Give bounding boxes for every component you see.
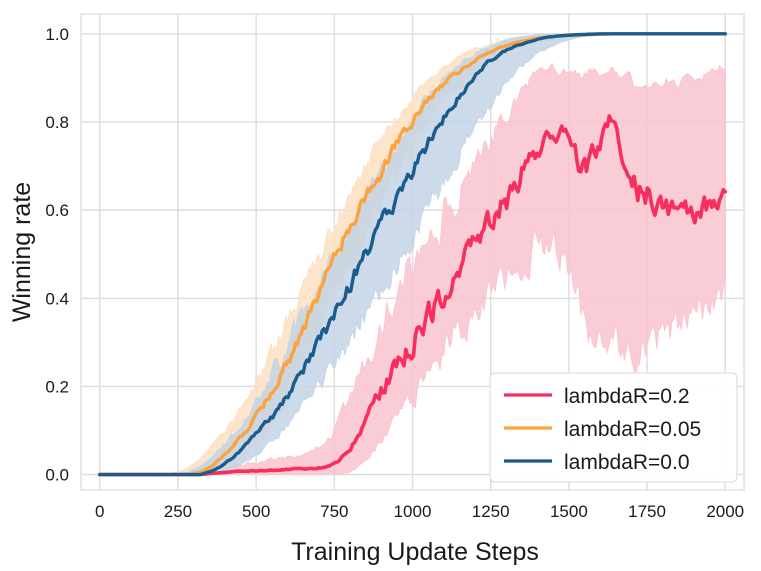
x-tick-label: 1250 [472, 502, 510, 521]
x-tick-label: 1500 [550, 502, 588, 521]
chart-figure: 025050075010001250150017502000 0.00.20.4… [0, 0, 761, 571]
x-tick-label: 0 [95, 502, 104, 521]
x-tick-label: 1750 [628, 502, 666, 521]
x-tick-label: 2000 [706, 502, 744, 521]
x-tick-label: 500 [242, 502, 270, 521]
y-tick-label: 0.0 [45, 466, 69, 485]
chart-legend[interactable]: lambdaR=0.2lambdaR=0.05lambdaR=0.0 [490, 373, 737, 482]
winning-rate-line-chart: 025050075010001250150017502000 0.00.20.4… [0, 0, 761, 571]
x-tick-label: 1000 [394, 502, 432, 521]
x-tick-label: 250 [164, 502, 192, 521]
legend-label-lambdaR=0.2: lambdaR=0.2 [564, 385, 690, 408]
legend-label-lambdaR=0.05: lambdaR=0.05 [564, 418, 701, 441]
legend-label-lambdaR=0.0: lambdaR=0.0 [564, 451, 690, 474]
y-tick-label: 1.0 [45, 25, 69, 44]
y-axis-title: Winning rate [8, 182, 36, 322]
y-tick-label: 0.2 [45, 377, 69, 396]
y-tick-label: 0.8 [45, 113, 69, 132]
y-tick-label: 0.6 [45, 201, 69, 220]
x-axis-title: Training Update Steps [291, 538, 539, 566]
x-tick-label: 750 [320, 502, 348, 521]
y-tick-label: 0.4 [45, 289, 69, 308]
